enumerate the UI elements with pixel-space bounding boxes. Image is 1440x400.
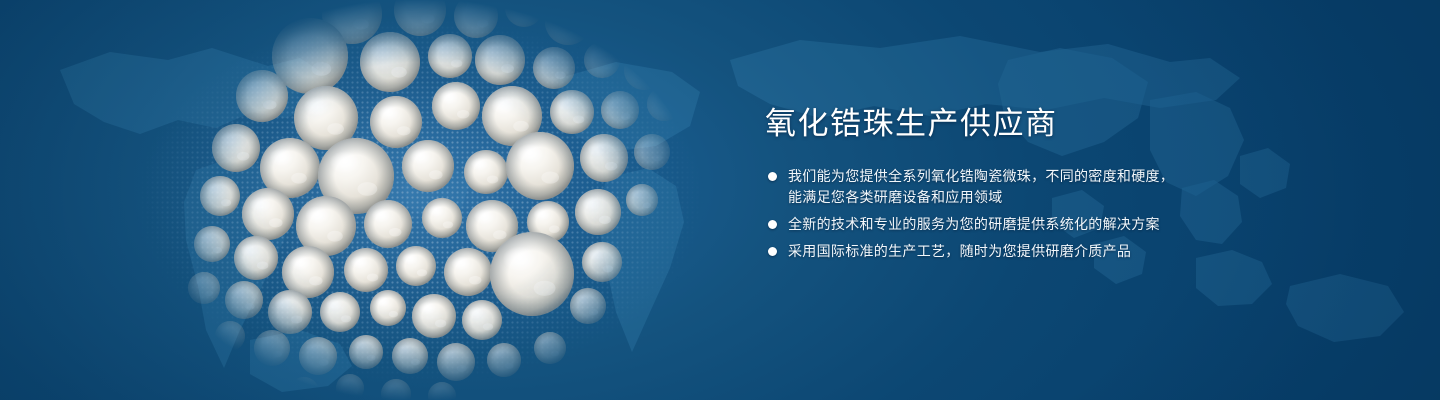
bullet-dot-icon [768,247,777,256]
list-item-line: 我们能为您提供全系列氧化锆陶瓷微珠，不同的密度和硬度， [788,166,1285,187]
feature-list: 我们能为您提供全系列氧化锆陶瓷微珠，不同的密度和硬度， 能满足您各类研磨设备和应… [765,166,1285,262]
list-item-line: 全新的技术和专业的服务为您的研磨提供系统化的解决方案 [788,214,1285,235]
bullet-dot-icon [768,172,777,181]
zirconia-beads-photo [120,0,720,400]
hero-banner: 氧化锆珠生产供应商 我们能为您提供全系列氧化锆陶瓷微珠，不同的密度和硬度， 能满… [0,0,1440,400]
page-title: 氧化锆珠生产供应商 [765,104,1285,144]
list-item: 全新的技术和专业的服务为您的研磨提供系统化的解决方案 [765,214,1285,235]
banner-copy: 氧化锆珠生产供应商 我们能为您提供全系列氧化锆陶瓷微珠，不同的密度和硬度， 能满… [765,104,1285,262]
bead-cluster [120,0,720,400]
bullet-dot-icon [768,220,777,229]
list-item: 采用国际标准的生产工艺，随时为您提供研磨介质产品 [765,241,1285,262]
list-item-line: 采用国际标准的生产工艺，随时为您提供研磨介质产品 [788,241,1285,262]
list-item-line: 能满足您各类研磨设备和应用领域 [788,187,1285,208]
list-item: 我们能为您提供全系列氧化锆陶瓷微珠，不同的密度和硬度， 能满足您各类研磨设备和应… [765,166,1285,208]
